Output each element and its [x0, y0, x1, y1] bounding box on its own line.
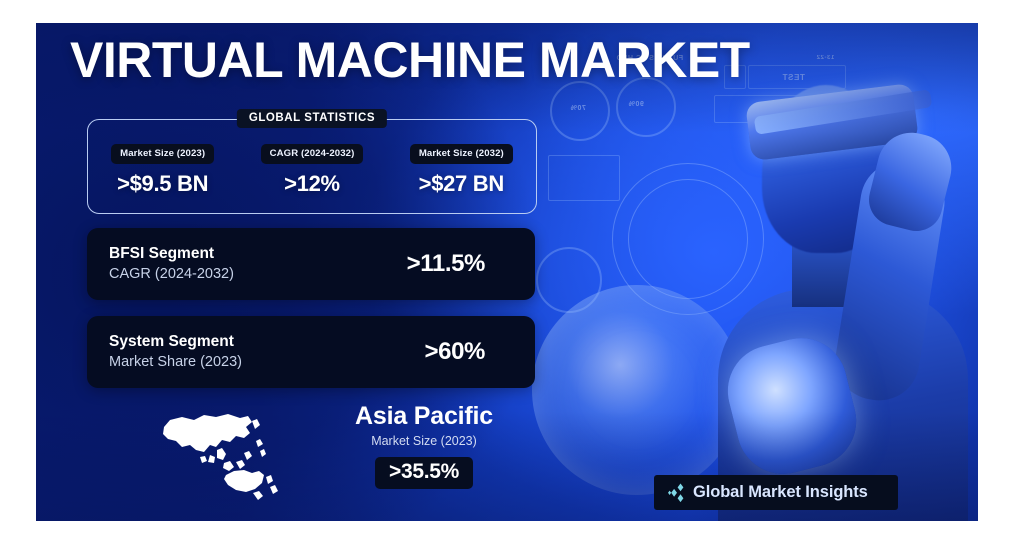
stat-column-cagr: CAGR (2024-2032) >12% — [237, 137, 386, 197]
region-name: Asia Pacific — [304, 401, 544, 432]
brand-name: Global Market Insights — [693, 483, 868, 502]
segment-subtitle: CAGR (2024-2032) — [109, 264, 407, 284]
segment-subtitle: Market Share (2023) — [109, 352, 425, 372]
global-statistics-panel: GLOBAL STATISTICS Market Size (2023) >$9… — [87, 119, 537, 214]
page-title: VIRTUAL MACHINE MARKET — [70, 29, 950, 91]
stat-label: Market Size (2032) — [410, 144, 513, 164]
region-subtitle: Market Size (2023) — [304, 432, 544, 451]
region-highlight-block: Asia Pacific Market Size (2023) >35.5% — [156, 399, 556, 509]
segment-card-bfsi: BFSI Segment CAGR (2024-2032) >11.5% — [87, 228, 535, 300]
region-value: >35.5% — [375, 457, 473, 489]
stat-value: >$9.5 BN — [88, 171, 237, 197]
segment-value: >11.5% — [407, 250, 535, 278]
stat-column-market-size-2032: Market Size (2032) >$27 BN — [387, 137, 536, 197]
segment-title: System Segment — [109, 332, 425, 352]
segment-value: >60% — [425, 338, 535, 366]
asia-pacific-map-icon — [156, 405, 296, 505]
segment-card-system: System Segment Market Share (2023) >60% — [87, 316, 535, 388]
stat-value: >12% — [237, 171, 386, 197]
stat-label: CAGR (2024-2032) — [261, 144, 364, 164]
brand-logo: Global Market Insights — [654, 475, 898, 510]
segment-title: BFSI Segment — [109, 244, 407, 264]
stat-column-market-size-2023: Market Size (2023) >$9.5 BN — [88, 137, 237, 197]
stat-label: Market Size (2023) — [111, 144, 214, 164]
infographic-canvas: FUTURISTIC HUD TEST 70% 90% 13-22 — [36, 23, 978, 521]
stat-value: >$27 BN — [387, 171, 536, 197]
gmi-diamond-logo-icon — [668, 482, 689, 504]
